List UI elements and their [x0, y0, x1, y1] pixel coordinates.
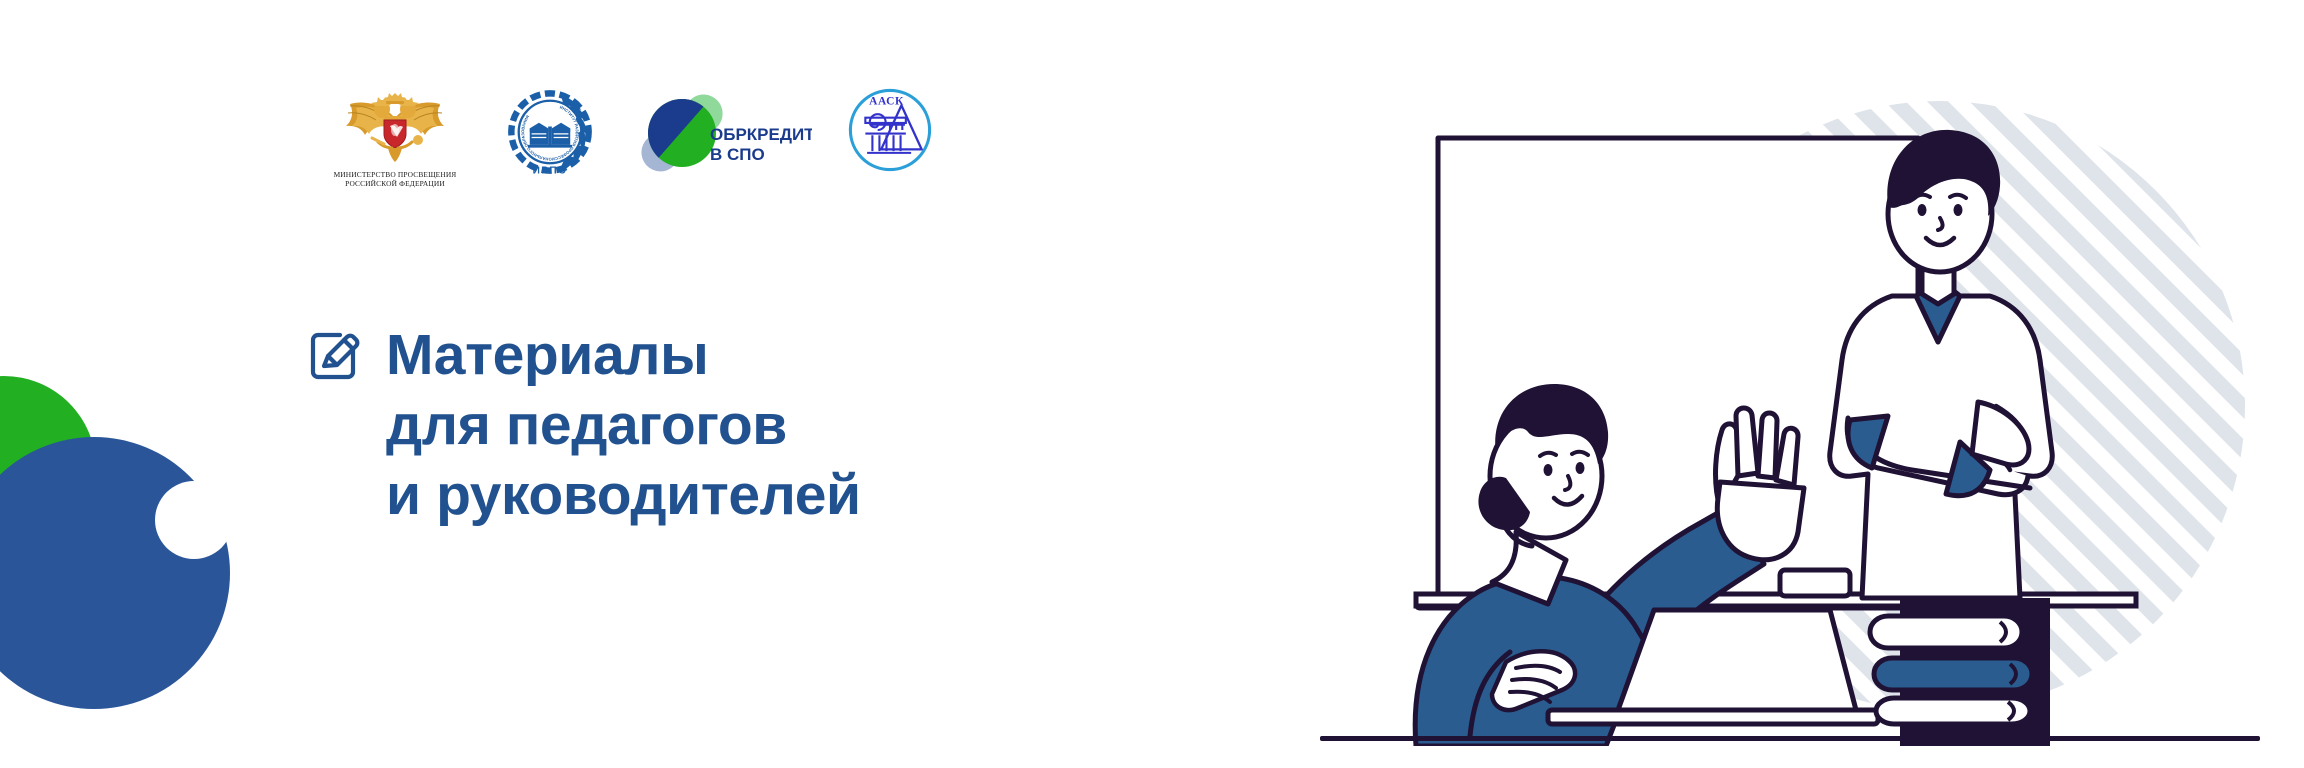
- edit-pencil-icon: [306, 326, 362, 387]
- logo-obrkredit[interactable]: ОБРКРЕДИТ В СПО: [630, 92, 812, 174]
- logo-irpo[interactable]: ИНСТИТУТ РАЗВИТИЯ ПРОФЕССИОНАЛЬНОГО ОБРА…: [504, 86, 596, 178]
- logo-ministry-of-education[interactable]: МИНИСТЕРСТВО ПРОСВЕЩЕНИЯ РОССИЙСКОЙ ФЕДЕ…: [320, 88, 470, 188]
- irpo-abbr: ИРПО: [533, 165, 568, 176]
- headline-block: Материалы для педагогов и руководителей: [306, 320, 861, 530]
- deco-blue-circle: [0, 437, 230, 709]
- logo-strip: МИНИСТЕРСТВО ПРОСВЕЩЕНИЯ РОССИЙСКОЙ ФЕДЕ…: [320, 88, 934, 188]
- aask-logo: ААСК: [846, 86, 934, 174]
- page-title: Материалы для педагогов и руководителей: [386, 320, 861, 530]
- obrkredit-line1: ОБРКРЕДИТ: [710, 125, 812, 144]
- logo-aask[interactable]: ААСК: [846, 86, 934, 174]
- aask-abbr: ААСК: [869, 95, 904, 107]
- floor-line: [1320, 736, 2260, 741]
- logo-ministry-caption: МИНИСТЕРСТВО ПРОСВЕЩЕНИЯ РОССИЙСКОЙ ФЕДЕ…: [334, 170, 457, 188]
- classroom-illustration: [1320, 46, 2300, 746]
- obrkredit-line2: В СПО: [710, 145, 765, 164]
- obrkredit-logo: ОБРКРЕДИТ В СПО: [630, 92, 812, 174]
- irpo-logo: ИНСТИТУТ РАЗВИТИЯ ПРОФЕССИОНАЛЬНОГО ОБРА…: [504, 86, 596, 178]
- banner-root: МИНИСТЕРСТВО ПРОСВЕЩЕНИЯ РОССИЙСКОЙ ФЕДЕ…: [0, 0, 2304, 768]
- book-stack: [1870, 616, 2032, 724]
- deco-white-circle: [155, 481, 233, 559]
- coat-of-arms-logo: [320, 88, 470, 166]
